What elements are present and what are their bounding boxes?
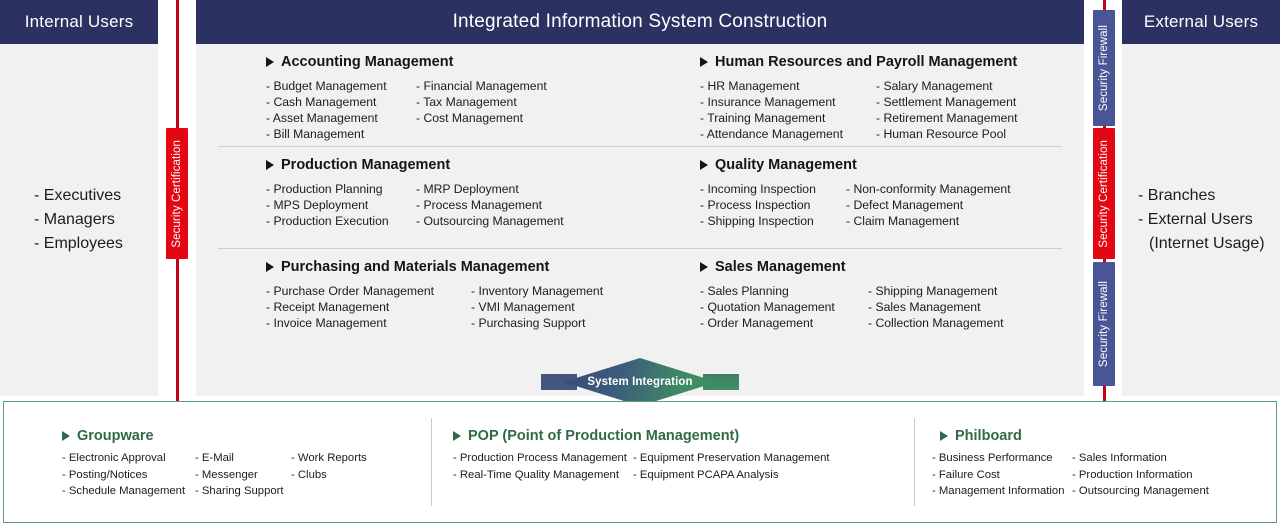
list-item: - Sales Management: [868, 299, 1004, 315]
security-certification-label: Security Certification: [1098, 140, 1110, 248]
list-item: - Outsourcing Management: [1072, 483, 1209, 500]
list-item: - Human Resource Pool: [876, 126, 1018, 142]
section-column-1: - Electronic Approval - Posting/Notices …: [62, 450, 195, 500]
section-title: POP (Point of Production Management): [468, 428, 739, 444]
list-item: - Sales Information: [1072, 450, 1209, 467]
list-item: - Budget Management: [266, 78, 416, 94]
list-item: - Production Process Management: [453, 450, 633, 467]
module-title-row: Accounting Management: [266, 54, 640, 70]
module-title: Sales Management: [715, 259, 846, 275]
list-item: - Failure Cost: [932, 467, 1072, 484]
list-item: - Employees: [34, 232, 123, 256]
module-title: Production Management: [281, 157, 450, 173]
section-philboard[interactable]: Philboard - Business Performance - Failu…: [914, 402, 1270, 522]
list-item: - MPS Deployment: [266, 197, 416, 213]
list-item: - Schedule Management: [62, 483, 195, 500]
external-users-list: - Branches - External Users (Internet Us…: [1138, 184, 1265, 256]
module-items: - HR Management - Insurance Management -…: [700, 78, 1066, 142]
security-certification-bar-left: Security Certification: [166, 128, 188, 259]
module-column-1: - HR Management - Insurance Management -…: [700, 78, 876, 142]
list-item: - Inventory Management: [471, 283, 603, 299]
security-firewall-bar-top: Security Firewall: [1093, 10, 1115, 126]
module-title-row: Sales Management: [700, 259, 1066, 275]
list-item: - External Users: [1138, 208, 1265, 232]
triangle-bullet-icon: [62, 431, 70, 441]
section-column-2: - Sales Information - Production Informa…: [1072, 450, 1209, 500]
section-items: - Production Process Management - Real-T…: [453, 450, 914, 483]
module-column-2: - Shipping Management - Sales Management…: [868, 283, 1004, 331]
list-item: - Executives: [34, 184, 123, 208]
security-certification-bar-right: Security Certification: [1093, 128, 1115, 259]
list-item: - Cost Management: [416, 110, 547, 126]
module-row: Purchasing and Materials Management - Pu…: [214, 249, 1066, 351]
module-human-resources-and-payroll-management[interactable]: Human Resources and Payroll Management -…: [640, 44, 1066, 147]
list-item: - Invoice Management: [266, 315, 471, 331]
section-title-row: Groupware: [62, 428, 431, 444]
list-item: - Settlement Management: [876, 94, 1018, 110]
list-item: - Management Information: [932, 483, 1072, 500]
section-divider: [914, 418, 915, 506]
list-item: - Shipping Inspection: [700, 213, 846, 229]
module-column-2: - Inventory Management - VMI Management …: [471, 283, 603, 331]
list-item: - Messenger: [195, 467, 291, 484]
internal-users-list: - Executives - Managers - Employees: [34, 184, 123, 256]
security-firewall-label: Security Firewall: [1098, 25, 1110, 111]
list-item: - MRP Deployment: [416, 181, 564, 197]
external-users-panel: External Users - Branches - External Use…: [1122, 0, 1280, 396]
list-item: - Attendance Management: [700, 126, 876, 142]
list-item: - Purchase Order Management: [266, 283, 471, 299]
section-column-1: - Business Performance - Failure Cost - …: [932, 450, 1072, 500]
list-item: - VMI Management: [471, 299, 603, 315]
module-column-2: - MRP Deployment - Process Management - …: [416, 181, 564, 229]
list-item: - Production Execution: [266, 213, 416, 229]
list-item: - E-Mail: [195, 450, 291, 467]
module-title-row: Purchasing and Materials Management: [266, 259, 640, 275]
security-certification-label: Security Certification: [171, 140, 183, 248]
list-item: - Production Planning: [266, 181, 416, 197]
section-divider: [431, 418, 432, 506]
section-title: Groupware: [77, 428, 154, 444]
list-item-sub: (Internet Usage): [1138, 232, 1265, 256]
list-item: - Equipment PCAPA Analysis: [633, 467, 830, 484]
list-item: - Production Information: [1072, 467, 1209, 484]
triangle-bullet-icon: [453, 431, 461, 441]
list-item: - Clubs: [291, 467, 367, 484]
module-title: Purchasing and Materials Management: [281, 259, 549, 275]
section-title: Philboard: [955, 428, 1022, 444]
module-quality-management[interactable]: Quality Management - Incoming Inspection…: [640, 147, 1066, 249]
system-integration-badge: System Integration: [563, 358, 717, 406]
module-column-2: - Financial Management - Tax Management …: [416, 78, 547, 142]
module-column-2: - Non-conformity Management - Defect Man…: [846, 181, 1011, 229]
list-item: - Branches: [1138, 184, 1265, 208]
module-production-management[interactable]: Production Management - Production Plann…: [214, 147, 640, 249]
module-accounting-management[interactable]: Accounting Management - Budget Managemen…: [214, 44, 640, 147]
list-item: - Bill Management: [266, 126, 416, 142]
module-column-2: - Salary Management - Settlement Managem…: [876, 78, 1018, 142]
list-item: - Non-conformity Management: [846, 181, 1011, 197]
list-item: - Quotation Management: [700, 299, 868, 315]
section-items: - Business Performance - Failure Cost - …: [932, 450, 1270, 500]
triangle-bullet-icon: [700, 57, 708, 67]
list-item: - Incoming Inspection: [700, 181, 846, 197]
module-row: Production Management - Production Plann…: [214, 147, 1066, 249]
integrated-system-header: Integrated Information System Constructi…: [196, 0, 1084, 44]
section-groupware[interactable]: Groupware - Electronic Approval - Postin…: [4, 402, 431, 522]
list-item: - Equipment Preservation Management: [633, 450, 830, 467]
list-item: - Electronic Approval: [62, 450, 195, 467]
section-title-row: POP (Point of Production Management): [453, 428, 914, 444]
module-items: - Purchase Order Management - Receipt Ma…: [266, 283, 640, 331]
triangle-bullet-icon: [940, 431, 948, 441]
module-purchasing-and-materials-management[interactable]: Purchasing and Materials Management - Pu…: [214, 249, 640, 351]
section-column-2: - Equipment Preservation Management - Eq…: [633, 450, 830, 483]
security-firewall-bar-bottom: Security Firewall: [1093, 262, 1115, 386]
module-title-row: Production Management: [266, 157, 640, 173]
list-item: - Sales Planning: [700, 283, 868, 299]
list-item: - Sharing Support: [195, 483, 291, 500]
list-item: - Outsourcing Management: [416, 213, 564, 229]
collaboration-panel: Groupware - Electronic Approval - Postin…: [3, 401, 1277, 523]
diagram-root: Internal Users - Executives - Managers -…: [0, 0, 1280, 527]
list-item: - Retirement Management: [876, 110, 1018, 126]
list-item: - Work Reports: [291, 450, 367, 467]
module-items: - Budget Management - Cash Management - …: [266, 78, 640, 142]
module-title: Quality Management: [715, 157, 857, 173]
module-title-row: Human Resources and Payroll Management: [700, 54, 1066, 70]
list-item: - Tax Management: [416, 94, 547, 110]
module-title: Accounting Management: [281, 54, 453, 70]
list-item: - Collection Management: [868, 315, 1004, 331]
list-item: - Posting/Notices: [62, 467, 195, 484]
list-item: - HR Management: [700, 78, 876, 94]
list-item: - Purchasing Support: [471, 315, 603, 331]
external-users-header: External Users: [1122, 0, 1280, 44]
triangle-bullet-icon: [700, 160, 708, 170]
module-grid: Accounting Management - Budget Managemen…: [196, 44, 1084, 396]
integrated-system-panel: Integrated Information System Constructi…: [196, 0, 1084, 396]
internal-users-header: Internal Users: [0, 0, 158, 44]
triangle-bullet-icon: [266, 57, 274, 67]
list-item: - Training Management: [700, 110, 876, 126]
list-item: - Process Inspection: [700, 197, 846, 213]
list-item: - Financial Management: [416, 78, 547, 94]
section-column-3: - Work Reports - Clubs: [291, 450, 367, 500]
module-items: - Incoming Inspection - Process Inspecti…: [700, 181, 1066, 229]
list-item: - Asset Management: [266, 110, 416, 126]
section-column-2: - E-Mail - Messenger - Sharing Support: [195, 450, 291, 500]
module-column-1: - Production Planning - MPS Deployment -…: [266, 181, 416, 229]
system-integration-label: System Integration: [563, 358, 717, 406]
section-column-1: - Production Process Management - Real-T…: [453, 450, 633, 483]
list-item: - Order Management: [700, 315, 868, 331]
module-items: - Sales Planning - Quotation Management …: [700, 283, 1066, 331]
triangle-bullet-icon: [700, 262, 708, 272]
triangle-bullet-icon: [266, 160, 274, 170]
internal-users-body: - Executives - Managers - Employees: [0, 44, 158, 396]
list-item: - Cash Management: [266, 94, 416, 110]
list-item: - Insurance Management: [700, 94, 876, 110]
module-row: Accounting Management - Budget Managemen…: [214, 44, 1066, 147]
module-sales-management[interactable]: Sales Management - Sales Planning - Quot…: [640, 249, 1066, 351]
section-title-row: Philboard: [932, 428, 1270, 444]
list-item: - Real-Time Quality Management: [453, 467, 633, 484]
triangle-bullet-icon: [266, 262, 274, 272]
module-column-1: - Sales Planning - Quotation Management …: [700, 283, 868, 331]
internal-users-panel: Internal Users - Executives - Managers -…: [0, 0, 158, 396]
section-items: - Electronic Approval - Posting/Notices …: [62, 450, 431, 500]
module-title: Human Resources and Payroll Management: [715, 54, 1017, 70]
list-item: - Defect Management: [846, 197, 1011, 213]
list-item: - Shipping Management: [868, 283, 1004, 299]
list-item: - Claim Management: [846, 213, 1011, 229]
list-item: - Process Management: [416, 197, 564, 213]
module-items: - Production Planning - MPS Deployment -…: [266, 181, 640, 229]
list-item: - Managers: [34, 208, 123, 232]
list-item: - Salary Management: [876, 78, 1018, 94]
module-column-1: - Purchase Order Management - Receipt Ma…: [266, 283, 471, 331]
list-item: - Receipt Management: [266, 299, 471, 315]
list-item: - Business Performance: [932, 450, 1072, 467]
module-title-row: Quality Management: [700, 157, 1066, 173]
external-users-body: - Branches - External Users (Internet Us…: [1122, 44, 1280, 396]
security-firewall-label: Security Firewall: [1098, 281, 1110, 367]
section-pop[interactable]: POP (Point of Production Management) - P…: [431, 402, 914, 522]
module-column-1: - Budget Management - Cash Management - …: [266, 78, 416, 142]
module-column-1: - Incoming Inspection - Process Inspecti…: [700, 181, 846, 229]
